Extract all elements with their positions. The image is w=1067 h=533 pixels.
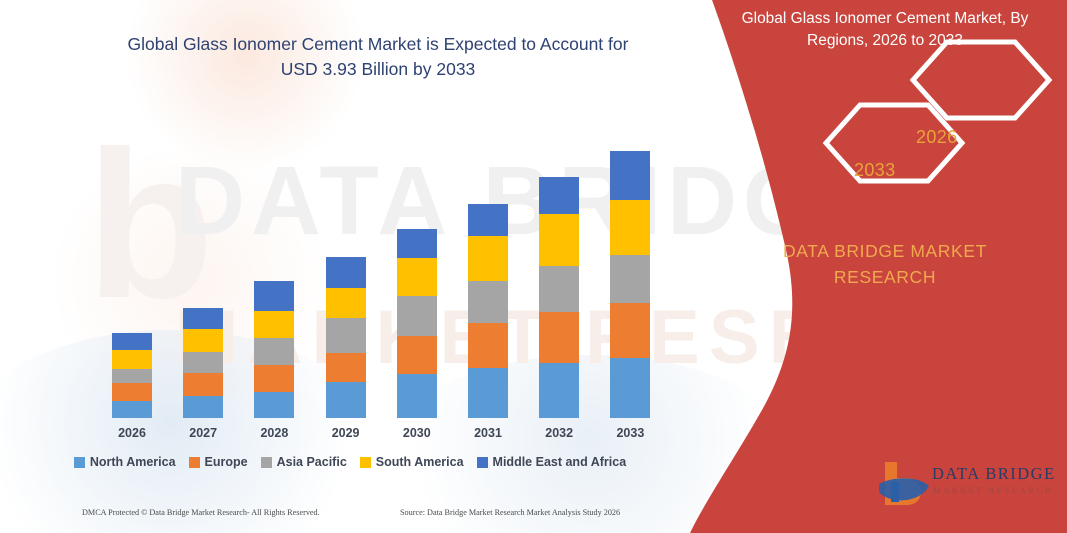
bar-segment: [183, 308, 223, 329]
bar-segment: [112, 333, 152, 350]
bar-segment: [539, 312, 579, 363]
legend-label: Europe: [205, 455, 248, 469]
bar-column: [183, 308, 223, 418]
hexagon-shapes: [700, 0, 1067, 220]
bar-segment: [112, 369, 152, 383]
legend-swatch: [261, 457, 272, 468]
bar-segment: [397, 296, 437, 336]
bar-segment: [112, 401, 152, 418]
legend-item[interactable]: North America: [74, 455, 176, 469]
x-axis-label: 2029: [306, 426, 386, 440]
logo-subtitle: MARKET RESEARCH: [933, 485, 1054, 495]
bar-segment: [610, 303, 650, 358]
hexagon-2026-label: 2026: [916, 127, 957, 148]
legend-swatch: [189, 457, 200, 468]
bar-segment: [468, 368, 508, 418]
x-axis-label: 2027: [163, 426, 243, 440]
bar-segment: [610, 200, 650, 255]
bar-segment: [539, 363, 579, 418]
bar-segment: [326, 382, 366, 418]
x-axis-label: 2030: [377, 426, 457, 440]
bar-segment: [326, 288, 366, 318]
bar-column: [112, 333, 152, 418]
bar-segment: [468, 236, 508, 281]
footer: DMCA Protected © Data Bridge Market Rese…: [0, 505, 700, 527]
logo-bridge-icon: [875, 458, 931, 506]
legend-item[interactable]: Middle East and Africa: [477, 455, 627, 469]
bar-segment: [610, 255, 650, 303]
brand-name: DATA BRIDGE MARKET RESEARCH: [725, 238, 1045, 291]
bar-segment: [326, 318, 366, 353]
hexagon-group: 2026 2033: [700, 0, 1067, 220]
hexagon-2026-shape: [913, 42, 1049, 118]
legend-swatch: [477, 457, 488, 468]
bar-column: [468, 204, 508, 418]
legend-swatch: [360, 457, 371, 468]
bar-segment: [254, 338, 294, 365]
legend-item[interactable]: Europe: [189, 455, 248, 469]
bar-segment: [254, 281, 294, 311]
bar-segment: [610, 358, 650, 418]
x-axis-label: 2031: [448, 426, 528, 440]
brand-line-2: RESEARCH: [725, 264, 1045, 290]
brand-line-1: DATA BRIDGE MARKET: [725, 238, 1045, 264]
bar-segment: [183, 373, 223, 396]
bar-column: [326, 257, 366, 418]
bar-column: [610, 151, 650, 418]
legend-label: Middle East and Africa: [493, 455, 627, 469]
bar-segment: [610, 151, 650, 200]
bar-segment: [397, 336, 437, 374]
hexagon-2033-label: 2033: [854, 160, 895, 181]
chart-legend: North AmericaEuropeAsia PacificSouth Ame…: [0, 455, 700, 469]
bar-column: [539, 177, 579, 418]
bar-segment: [183, 329, 223, 352]
bar-segment: [254, 365, 294, 392]
legend-label: North America: [90, 455, 176, 469]
bar-segment: [539, 266, 579, 312]
logo-title: DATA BRIDGE: [932, 464, 1056, 484]
bar-segment: [326, 257, 366, 288]
footer-copyright: DMCA Protected © Data Bridge Market Rese…: [82, 508, 320, 517]
x-axis-label: 2028: [234, 426, 314, 440]
x-axis-label: 2033: [590, 426, 670, 440]
stacked-bar-chart: 20262027202820292030203120322033 North A…: [0, 0, 700, 533]
bar-column: [397, 229, 437, 418]
bar-segment: [254, 311, 294, 338]
bar-segment: [539, 177, 579, 214]
infographic-root: b DATA BRIDGE MARKET RESEARCH Global Gla…: [0, 0, 1067, 533]
bar-segment: [468, 204, 508, 236]
bar-segment: [397, 374, 437, 418]
x-axis-label: 2032: [519, 426, 599, 440]
bar-segment: [183, 396, 223, 418]
bar-column: [254, 281, 294, 418]
legend-label: Asia Pacific: [277, 455, 347, 469]
x-axis-label: 2026: [92, 426, 172, 440]
red-panel-content: Global Glass Ionomer Cement Market, By R…: [700, 0, 1067, 533]
bar-segment: [397, 229, 437, 258]
bar-segment: [468, 323, 508, 368]
bar-segment: [112, 350, 152, 369]
bar-segment: [254, 392, 294, 418]
legend-swatch: [74, 457, 85, 468]
bar-segment: [468, 281, 508, 323]
legend-label: South America: [376, 455, 464, 469]
legend-item[interactable]: Asia Pacific: [261, 455, 347, 469]
bar-segment: [326, 353, 366, 382]
footer-source: Source: Data Bridge Market Research Mark…: [400, 508, 620, 517]
bar-segment: [183, 352, 223, 373]
bar-segment: [112, 383, 152, 401]
company-logo: DATA BRIDGE MARKET RESEARCH: [875, 458, 1060, 510]
bar-segment: [539, 214, 579, 266]
legend-item[interactable]: South America: [360, 455, 464, 469]
bar-segment: [397, 258, 437, 296]
